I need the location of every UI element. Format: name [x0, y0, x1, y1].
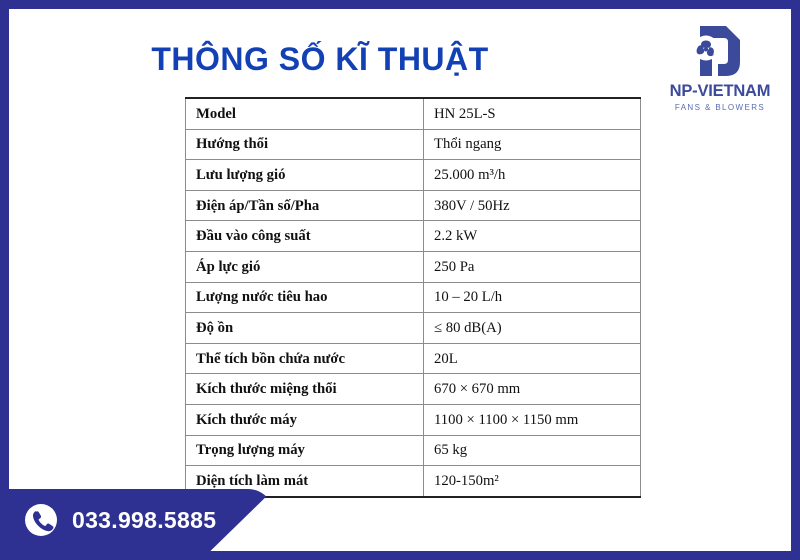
spec-label: Độ ồn [186, 313, 424, 344]
spec-value: 380V / 50Hz [424, 190, 641, 221]
spec-label: Kích thước miệng thổi [186, 374, 424, 405]
spec-label: Lượng nước tiêu hao [186, 282, 424, 313]
table-row: Kích thước miệng thổi 670 × 670 mm [186, 374, 641, 405]
spec-label: Thể tích bồn chứa nước [186, 343, 424, 374]
spec-label: Lưu lượng gió [186, 160, 424, 191]
spec-value: 670 × 670 mm [424, 374, 641, 405]
table-row: Áp lực gió 250 Pa [186, 251, 641, 282]
phone-handset-icon [23, 502, 59, 538]
frame-border-bottom [0, 551, 800, 560]
spec-value: ≤ 80 dB(A) [424, 313, 641, 344]
spec-label: Trọng lượng máy [186, 435, 424, 466]
phone-number-text: 033.998.5885 [72, 507, 216, 534]
spec-label: Model [186, 98, 424, 129]
table-row: Hướng thổi Thổi ngang [186, 129, 641, 160]
logo-company-name: NP-VIETNAM [648, 82, 792, 101]
spec-value: 2.2 kW [424, 221, 641, 252]
contact-phone-banner[interactable]: 033.998.5885 [9, 489, 274, 551]
table-row: Thể tích bồn chứa nước 20L [186, 343, 641, 374]
page-title: THÔNG SỐ KĨ THUẬT [40, 40, 600, 78]
logo-tagline: FANS & BLOWERS [648, 102, 792, 113]
spec-label: Kích thước máy [186, 404, 424, 435]
company-logo: NP-VIETNAM FANS & BLOWERS [648, 22, 792, 113]
table-row: Độ ồn ≤ 80 dB(A) [186, 313, 641, 344]
spec-table-body: Model HN 25L-S Hướng thổi Thổi ngang Lưu… [186, 98, 641, 497]
table-row: Lưu lượng gió 25.000 m³/h [186, 160, 641, 191]
spec-label: Áp lực gió [186, 251, 424, 282]
spec-value: 65 kg [424, 435, 641, 466]
fan-propeller-in-letter-p-icon [648, 22, 792, 80]
table-row: Model HN 25L-S [186, 98, 641, 129]
frame-border-top [0, 0, 800, 9]
frame-border-right [791, 0, 800, 560]
table-row: Lượng nước tiêu hao 10 – 20 L/h [186, 282, 641, 313]
spec-value: 10 – 20 L/h [424, 282, 641, 313]
frame-border-left [0, 0, 9, 560]
table-row: Kích thước máy 1100 × 1100 × 1150 mm [186, 404, 641, 435]
spec-value: HN 25L-S [424, 98, 641, 129]
spec-label: Hướng thổi [186, 129, 424, 160]
spec-label: Đầu vào công suất [186, 221, 424, 252]
table-row: Đầu vào công suất 2.2 kW [186, 221, 641, 252]
spec-value: 250 Pa [424, 251, 641, 282]
spec-label: Điện áp/Tần số/Pha [186, 190, 424, 221]
spec-sheet-page: THÔNG SỐ KĨ THUẬT NP-VIETNAM FANS & BLOW… [0, 0, 800, 560]
spec-value: 1100 × 1100 × 1150 mm [424, 404, 641, 435]
spec-value: Thổi ngang [424, 129, 641, 160]
spec-value: 20L [424, 343, 641, 374]
table-row: Trọng lượng máy 65 kg [186, 435, 641, 466]
spec-value: 25.000 m³/h [424, 160, 641, 191]
spec-value: 120-150m² [424, 466, 641, 497]
table-row: Điện áp/Tần số/Pha 380V / 50Hz [186, 190, 641, 221]
specifications-table: Model HN 25L-S Hướng thổi Thổi ngang Lưu… [185, 97, 641, 498]
